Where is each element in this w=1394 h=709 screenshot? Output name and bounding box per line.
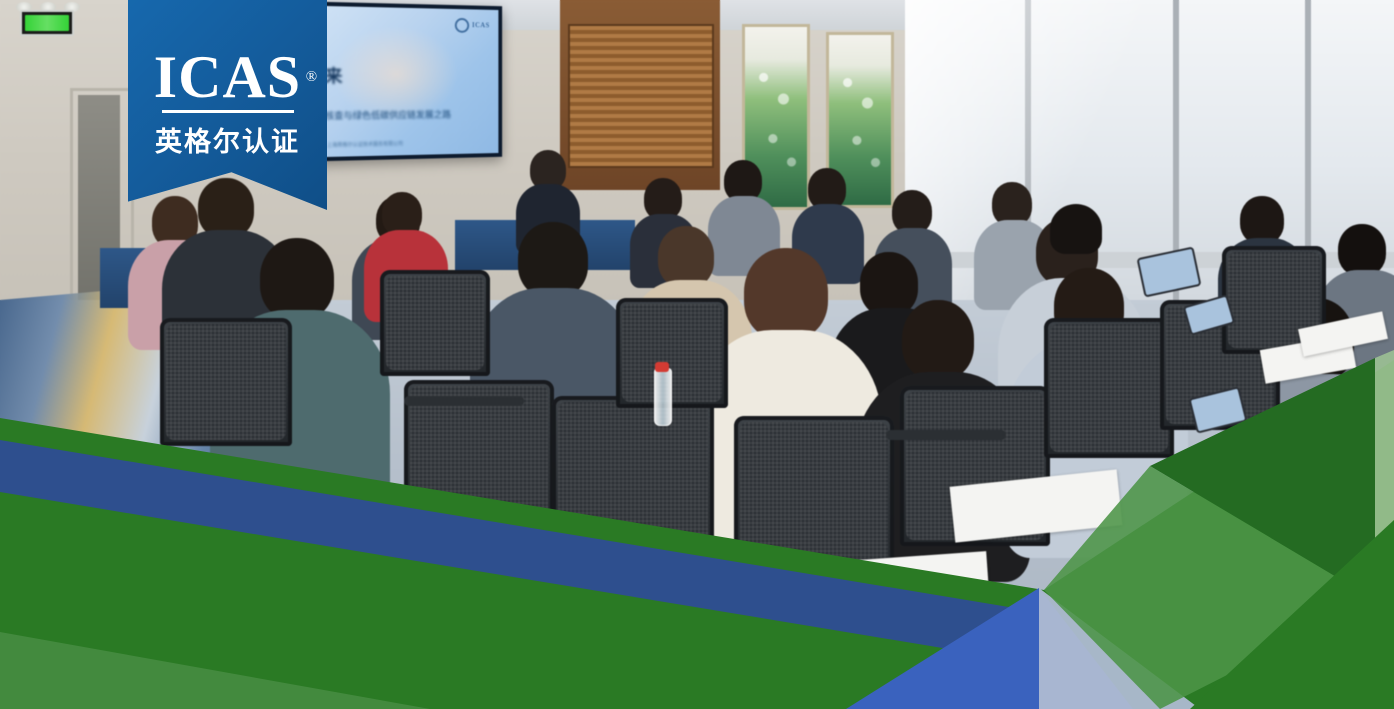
slide-logo-text: ICAS xyxy=(472,21,490,29)
slide-logo: ICAS xyxy=(455,19,491,31)
slide-logo-ring-icon xyxy=(455,17,469,32)
brand-divider xyxy=(162,110,294,113)
brand-chinese-name: 英格尔认证 xyxy=(128,120,327,159)
banner-canvas: ICAS 来 核查与绿色低碳供应链发展之路 上海英格尔认证技术服务有限公司 xyxy=(0,0,1394,709)
chair xyxy=(552,396,714,568)
chair xyxy=(160,318,292,446)
brand-name: ICAS xyxy=(154,44,301,110)
bottle-cap xyxy=(655,362,669,372)
paper-sheet xyxy=(844,551,989,609)
slide-subtitle: 核查与绿色低碳供应链发展之路 xyxy=(325,108,451,122)
registered-trademark-icon: ® xyxy=(306,48,318,106)
water-bottle xyxy=(654,368,672,426)
chair xyxy=(616,298,728,408)
projection-screen: ICAS 来 核查与绿色低碳供应链发展之路 上海英格尔认证技术服务有限公司 xyxy=(314,2,502,162)
chair xyxy=(380,270,490,376)
brand-wordmark: ICAS ® xyxy=(154,48,301,106)
exit-sign-icon xyxy=(20,10,74,36)
slide-footnote: 上海英格尔认证技术服务有限公司 xyxy=(327,140,403,149)
slide-title: 来 xyxy=(325,61,343,87)
chair xyxy=(1044,318,1174,458)
chair-armrest xyxy=(886,430,1006,440)
chair-armrest xyxy=(404,396,524,406)
window-blinds xyxy=(568,24,714,168)
